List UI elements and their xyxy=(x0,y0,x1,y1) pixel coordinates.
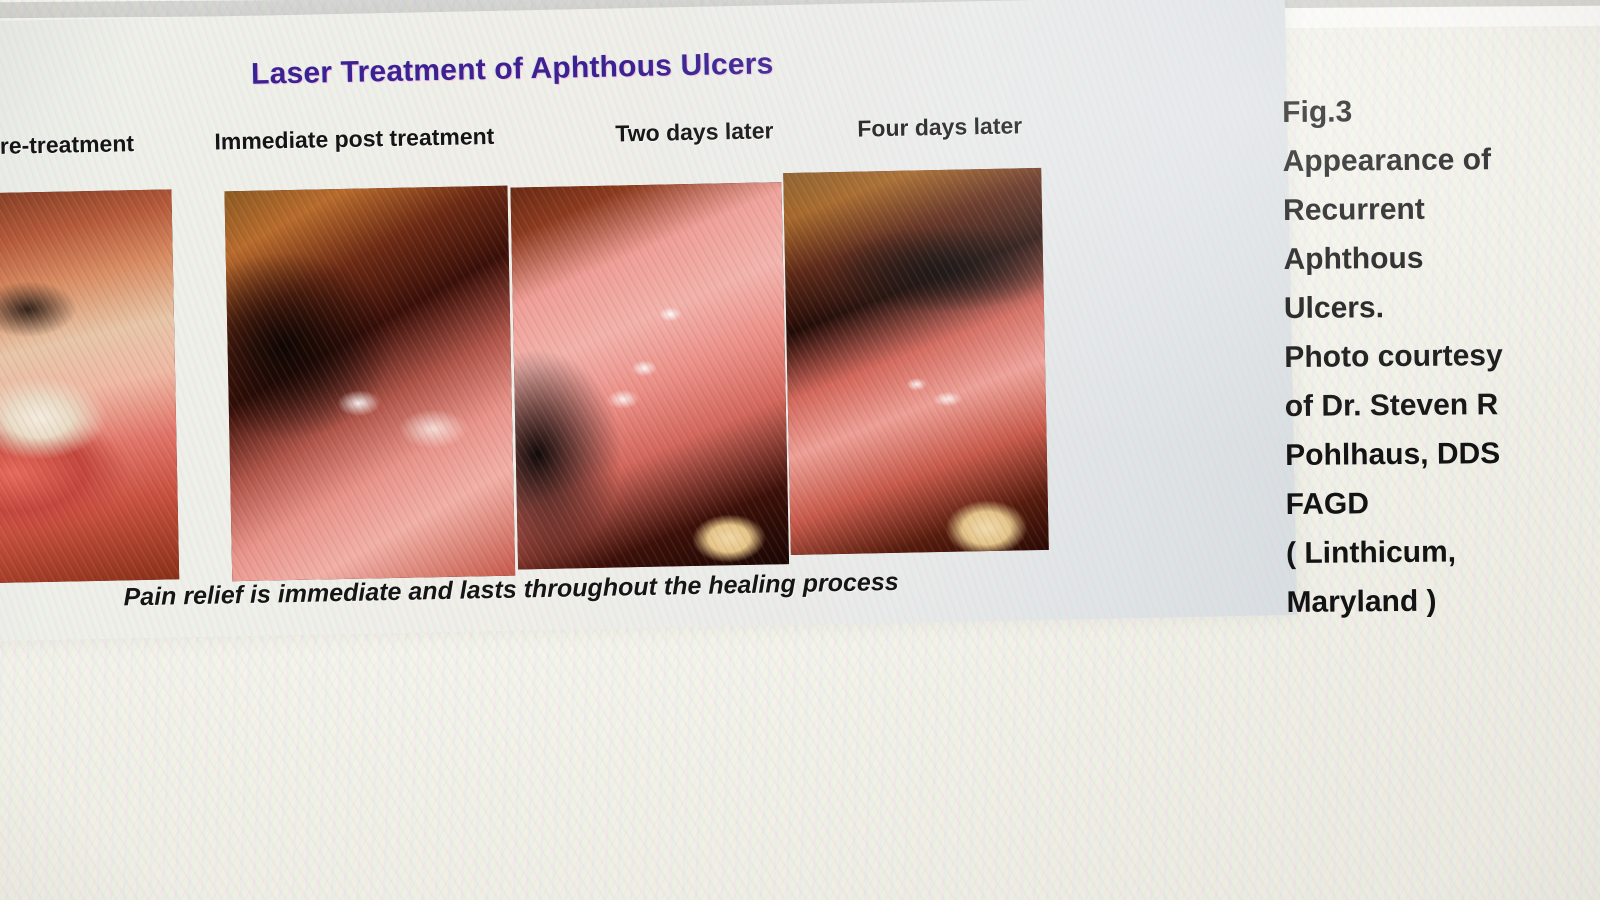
immediate-post-treatment-photo-image xyxy=(224,186,515,582)
figure-caption-line: Pohlhaus, DDS xyxy=(1285,428,1600,480)
figure-caption-line: FAGD xyxy=(1285,477,1600,529)
figure-caption-line: Maryland ) xyxy=(1286,575,1600,627)
figure-caption-line: Aphthous xyxy=(1283,232,1600,284)
figure-caption-line: Photo courtesy xyxy=(1284,330,1600,382)
slide-title: Laser Treatment of Aphthous Ulcers xyxy=(251,47,774,91)
figure-caption-line: of Dr. Steven R xyxy=(1285,379,1600,431)
immediate-post-treatment-photo xyxy=(224,186,515,582)
presentation-slide: Laser Treatment of Aphthous Ulcers Pre-t… xyxy=(0,0,1297,642)
figure-caption-line: ( Linthicum, xyxy=(1286,526,1600,578)
column-label-two-days-later: Two days later xyxy=(615,117,774,147)
column-label-pre-treatment: Pre-treatment xyxy=(0,130,134,160)
two-days-later-photo xyxy=(510,182,789,569)
figure-caption-line: Fig.3 xyxy=(1282,85,1600,137)
four-days-later-photo xyxy=(783,168,1049,555)
figure-caption-line: Recurrent xyxy=(1283,183,1600,235)
four-days-later-photo-image xyxy=(783,168,1049,555)
pre-treatment-photo-image xyxy=(0,189,179,583)
two-days-later-photo-image xyxy=(510,182,789,569)
slide-inner: Laser Treatment of Aphthous Ulcers Pre-t… xyxy=(0,0,1297,642)
screenshot-canvas: Laser Treatment of Aphthous Ulcers Pre-t… xyxy=(0,0,1600,900)
figure-caption-line: Appearance of xyxy=(1282,134,1600,186)
figure-caption: Fig.3 Appearance of Recurrent Aphthous U… xyxy=(1282,85,1600,627)
figure-caption-line: Ulcers. xyxy=(1284,281,1600,333)
column-label-four-days-later: Four days later xyxy=(857,112,1022,142)
pre-treatment-photo xyxy=(0,189,179,583)
column-label-immediate-post-treatment: Immediate post treatment xyxy=(214,123,494,156)
